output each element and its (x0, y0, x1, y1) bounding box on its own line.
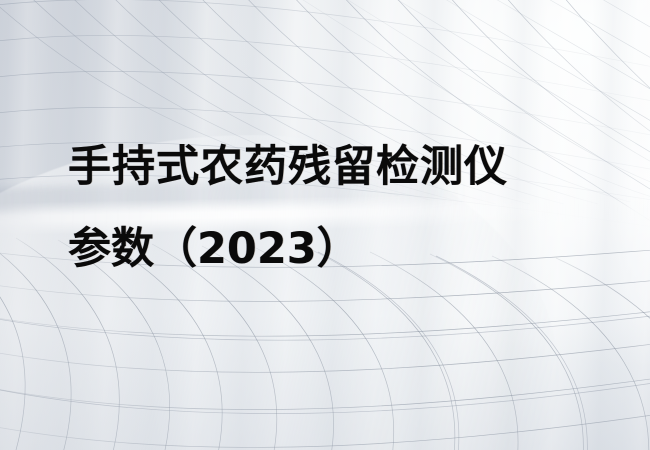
slide-title: 手持式农药残留检测仪 参数（2023） (68, 126, 628, 290)
title-line-1: 手持式农药残留检测仪 (68, 126, 628, 208)
title-slide: 手持式农药残留检测仪 参数（2023） (0, 0, 650, 450)
title-line-2: 参数（2023） (68, 208, 628, 290)
